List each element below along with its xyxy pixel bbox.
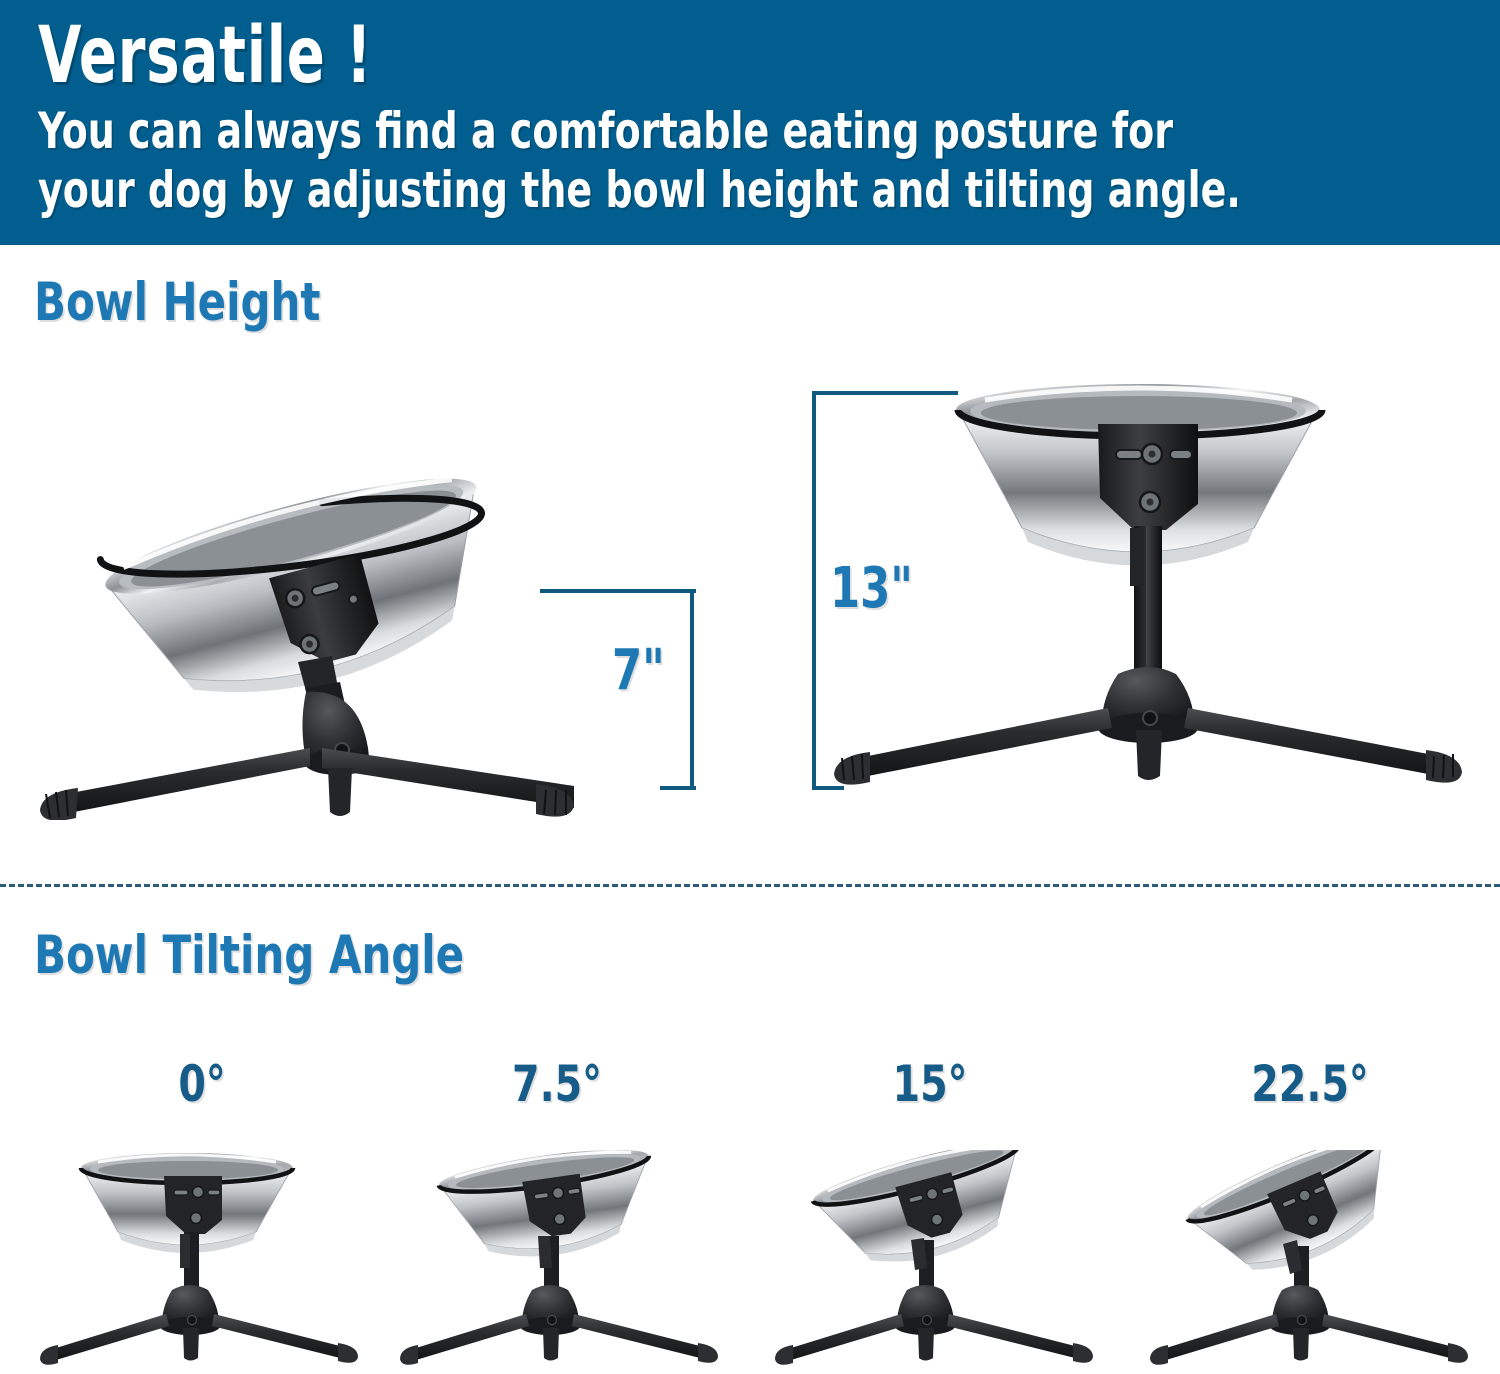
measure-line-7in-vertical (690, 589, 694, 789)
angle-label-0: 0° (178, 1055, 225, 1113)
headline-subtitle-line2: your dog by adjusting the bowl height an… (38, 161, 1273, 220)
measure-line-13in-bottom (812, 786, 844, 790)
measure-line-7in-top (540, 589, 696, 593)
measure-line-13in-top (812, 391, 958, 395)
header-banner: Versatile ! You can always find a comfor… (0, 0, 1500, 245)
section-title-bowl-height: Bowl Height (34, 272, 320, 333)
product-stand-angle-22-5 (1150, 1150, 1480, 1374)
headline-title: Versatile ! (38, 14, 1208, 98)
product-stand-angle-15 (775, 1150, 1105, 1374)
measure-label-7in: 7" (612, 638, 665, 703)
section-divider (0, 884, 1500, 887)
angle-label-22-5: 22.5° (1251, 1055, 1368, 1113)
measure-label-13in: 13" (830, 556, 913, 621)
product-stand-angle-0 (40, 1150, 370, 1374)
product-stand-13in (830, 378, 1470, 798)
product-stand-7in (10, 430, 590, 820)
measure-line-13in-vertical (812, 391, 816, 789)
angle-label-15: 15° (893, 1055, 968, 1113)
product-stand-angle-7-5 (400, 1150, 730, 1374)
headline-subtitle-line1: You can always find a comfortable eating… (38, 102, 1273, 161)
angle-label-7-5: 7.5° (512, 1055, 602, 1113)
measure-line-7in-bottom (660, 786, 696, 790)
headline-subtitle: You can always find a comfortable eating… (38, 102, 1273, 220)
section-title-bowl-tilting-angle: Bowl Tilting Angle (34, 925, 464, 986)
